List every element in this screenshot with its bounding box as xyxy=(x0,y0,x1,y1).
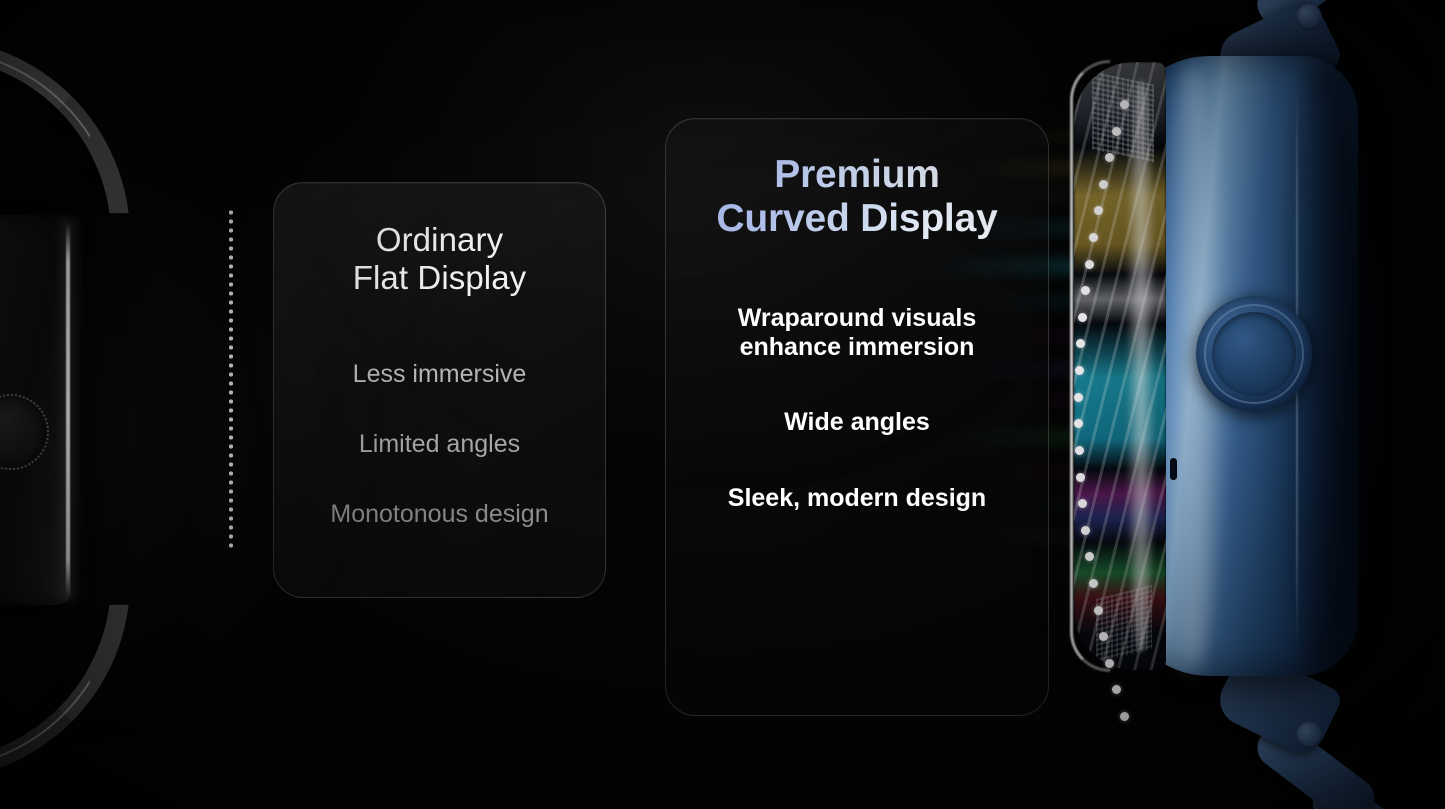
guide-dot xyxy=(1078,499,1087,508)
guide-dot xyxy=(1081,286,1090,295)
premium-card-bullets: Wraparound visuals enhance immersion Wid… xyxy=(666,304,1048,513)
ordinary-card-bullets: Less immersive Limited angles Monotonous… xyxy=(274,359,605,529)
ordinary-card-title: Ordinary Flat Display xyxy=(274,221,605,296)
guide-dot xyxy=(1075,446,1084,455)
premium-bullet-1: Wraparound visuals enhance immersion xyxy=(666,304,1048,363)
ordinary-bullet-1: Less immersive xyxy=(274,359,605,389)
premium-bullet-2: Wide angles xyxy=(666,408,1048,437)
left-dotted-guide-line xyxy=(229,208,233,548)
guide-dot xyxy=(1105,659,1114,668)
guide-dot xyxy=(1094,206,1103,215)
guide-dot xyxy=(1112,685,1121,694)
premium-bullet-3: Sleek, modern design xyxy=(666,484,1048,513)
guide-dot xyxy=(1105,153,1114,162)
comparison-graphic: Ordinary Flat Display Less immersive Lim… xyxy=(0,0,1445,809)
guide-dot xyxy=(1112,127,1121,136)
ordinary-bullet-2: Limited angles xyxy=(274,429,605,459)
guide-dot xyxy=(1085,260,1094,269)
ordinary-flat-display-watch xyxy=(0,60,250,760)
guide-dot xyxy=(1089,233,1098,242)
flat-display-edge xyxy=(66,223,70,597)
guide-dot xyxy=(1076,473,1085,482)
watch-microphone-port xyxy=(1170,458,1177,480)
guide-dot xyxy=(1099,632,1108,641)
guide-dot xyxy=(1099,180,1108,189)
guide-dot xyxy=(1081,526,1090,535)
link-bracelet-pin-top xyxy=(1296,4,1322,30)
premium-curved-display-watch xyxy=(1100,0,1445,809)
guide-dot xyxy=(1074,393,1083,402)
guide-dot xyxy=(1078,313,1087,322)
guide-dot xyxy=(1076,339,1085,348)
guide-dot xyxy=(1089,579,1098,588)
guide-dot xyxy=(1085,552,1094,561)
ordinary-title-line-1: Ordinary xyxy=(274,221,605,259)
ordinary-display-card: Ordinary Flat Display Less immersive Lim… xyxy=(273,182,606,598)
watch-crown-inner xyxy=(1212,312,1296,396)
ordinary-title-line-2: Flat Display xyxy=(274,259,605,297)
ordinary-bullet-3: Monotonous design xyxy=(274,499,605,529)
right-dotted-guide-arc xyxy=(1060,100,1150,712)
premium-card-title: Premium Curved Display xyxy=(666,153,1048,242)
guide-dot xyxy=(1120,100,1129,109)
guide-dot xyxy=(1075,366,1084,375)
premium-title-line-1: Premium xyxy=(666,153,1048,197)
guide-dot xyxy=(1074,419,1083,428)
premium-title-line-2: Curved Display xyxy=(666,197,1048,241)
guide-dot xyxy=(1094,606,1103,615)
premium-display-card: Premium Curved Display Wraparound visual… xyxy=(665,118,1049,716)
link-bracelet-pin-bottom xyxy=(1296,722,1322,748)
guide-dot xyxy=(1120,712,1129,721)
